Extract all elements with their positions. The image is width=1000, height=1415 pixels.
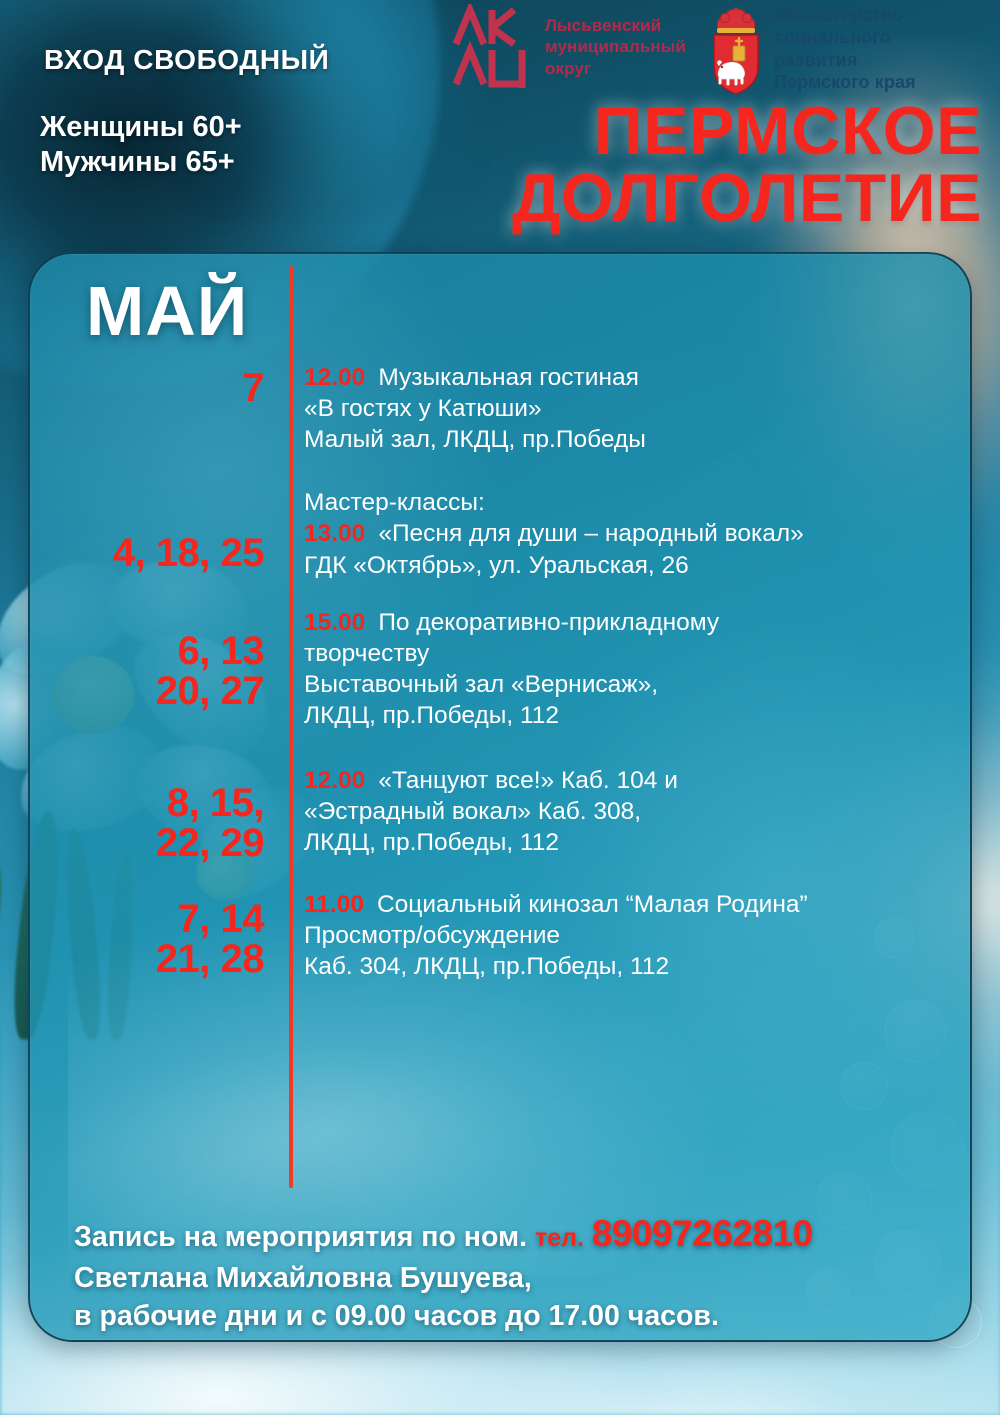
footer-contact-name: Светлана Михайловна Бушуева, bbox=[74, 1259, 954, 1297]
event-first-line: 11.00Социальный кинозал “Малая Родина” bbox=[304, 889, 808, 920]
schedule-card: МАЙ 7 12.00Музыкальная гостиная «В гостя… bbox=[28, 252, 972, 1342]
event-date-line: 4, 18, 25 bbox=[30, 533, 264, 573]
month-heading: МАЙ bbox=[86, 276, 248, 346]
event-date-line: 20, 27 bbox=[30, 671, 264, 711]
poster-title-line-2: ДОЛГОЛЕТИЕ bbox=[0, 165, 982, 232]
ministry-line-4: Пермского края bbox=[774, 72, 916, 92]
event-details: 15.00По декоративно-прикладному творчест… bbox=[278, 607, 719, 731]
event-date-line: 6, 13 bbox=[30, 631, 264, 671]
event-dates: 8, 15, 22, 29 bbox=[30, 765, 278, 863]
phone-number[interactable]: 89097262810 bbox=[592, 1213, 813, 1254]
event-first-line: 12.00Музыкальная гостиная bbox=[304, 362, 646, 393]
lkdc-line-2: муниципальный bbox=[545, 37, 686, 56]
event-details: 11.00Социальный кинозал “Малая Родина” П… bbox=[278, 889, 808, 982]
schedule-list: 7 12.00Музыкальная гостиная «В гостях у … bbox=[30, 362, 970, 1004]
ministry-line-1: Министерство bbox=[774, 5, 904, 25]
ministry-logo-text: Министерство социального развития Пермск… bbox=[774, 4, 916, 93]
free-entry-label: ВХОД СВОБОДНЫЙ bbox=[44, 44, 329, 76]
event-line: ЛКДЦ, пр.Победы, 112 bbox=[304, 827, 678, 858]
event-first-line: 12.00«Танцуют все!» Каб. 104 и bbox=[304, 765, 678, 796]
event-date-line: 7, 14 bbox=[30, 899, 264, 939]
poster: ВХОД СВОБОДНЫЙ Женщины 60+ Мужчины 65+ Л… bbox=[0, 0, 1000, 1415]
poster-title-line-1: ПЕРМСКОЕ bbox=[0, 98, 982, 165]
schedule-row: 7, 14 21, 28 11.00Социальный кинозал “Ма… bbox=[30, 889, 970, 982]
event-date-line: 21, 28 bbox=[30, 939, 264, 979]
logo-row: Лысьвенский муниципальный округ bbox=[452, 4, 916, 96]
event-line: «В гостях у Катюши» bbox=[304, 393, 646, 424]
perm-krai-coat-of-arms-icon bbox=[708, 4, 764, 96]
lkdc-line-3: округ bbox=[545, 59, 591, 78]
event-dates: 7, 14 21, 28 bbox=[30, 889, 278, 979]
event-time: 12.00 bbox=[304, 364, 365, 391]
event-line: Каб. 304, ЛКДЦ, пр.Победы, 112 bbox=[304, 951, 808, 982]
ministry-line-2: социального bbox=[774, 27, 891, 47]
lkdc-logo: Лысьвенский муниципальный округ bbox=[452, 4, 686, 90]
event-line: Музыкальная гостиная bbox=[378, 364, 639, 391]
event-line: ГДК «Октябрь», ул. Уральская, 26 bbox=[304, 550, 804, 581]
ministry-line-3: развития bbox=[774, 50, 858, 70]
lkdc-logo-text: Лысьвенский муниципальный округ bbox=[545, 15, 686, 79]
footer-line-1: Запись на мероприятия по ном. тел. 89097… bbox=[74, 1209, 954, 1259]
phone-label: тел. bbox=[535, 1224, 584, 1252]
event-heading: Мастер-классы: bbox=[304, 487, 804, 518]
event-date-line: 7 bbox=[30, 368, 264, 408]
poster-title: ПЕРМСКОЕ ДОЛГОЛЕТИЕ bbox=[0, 98, 982, 231]
event-dates: 6, 13 20, 27 bbox=[30, 607, 278, 711]
footer-working-hours: в рабочие дни и с 09.00 часов до 17.00 ч… bbox=[74, 1297, 954, 1335]
event-line: творчеству bbox=[304, 638, 719, 669]
event-details: Мастер-классы: 13.00«Песня для души – на… bbox=[278, 487, 804, 580]
event-time: 12.00 bbox=[304, 767, 365, 794]
event-line: ЛКДЦ, пр.Победы, 112 bbox=[304, 700, 719, 731]
contact-footer: Запись на мероприятия по ном. тел. 89097… bbox=[74, 1209, 954, 1335]
footer-booking-text: Запись на мероприятия по ном. bbox=[74, 1221, 527, 1253]
event-line: По декоративно-прикладному bbox=[378, 609, 719, 636]
event-dates: 7 bbox=[30, 362, 278, 408]
ministry-logo: Министерство социального развития Пермск… bbox=[708, 4, 916, 96]
event-details: 12.00Музыкальная гостиная «В гостях у Ка… bbox=[278, 362, 646, 455]
event-line: Выставочный зал «Вернисаж», bbox=[304, 669, 719, 700]
lkdc-line-1: Лысьвенский bbox=[545, 16, 661, 35]
schedule-row: 7 12.00Музыкальная гостиная «В гостях у … bbox=[30, 362, 970, 455]
event-time: 13.00 bbox=[304, 520, 365, 547]
schedule-row: 6, 13 20, 27 15.00По декоративно-приклад… bbox=[30, 607, 970, 731]
event-details: 12.00«Танцуют все!» Каб. 104 и «Эстрадны… bbox=[278, 765, 678, 858]
event-first-line: 15.00По декоративно-прикладному bbox=[304, 607, 719, 638]
schedule-row: 8, 15, 22, 29 12.00«Танцуют все!» Каб. 1… bbox=[30, 765, 970, 863]
event-line: «Эстрадный вокал» Каб. 308, bbox=[304, 796, 678, 827]
event-date-line: 8, 15, bbox=[30, 783, 264, 823]
lkdc-monogram-icon bbox=[452, 4, 534, 90]
event-line: «Песня для души – народный вокал» bbox=[378, 520, 803, 547]
event-line: Малый зал, ЛКДЦ, пр.Победы bbox=[304, 424, 646, 455]
event-time: 11.00 bbox=[304, 891, 364, 918]
event-line: Социальный кинозал “Малая Родина” bbox=[377, 891, 808, 918]
event-line: Просмотр/обсуждение bbox=[304, 920, 808, 951]
event-line: «Танцуют все!» Каб. 104 и bbox=[378, 767, 678, 794]
event-first-line: 13.00«Песня для души – народный вокал» bbox=[304, 518, 804, 549]
event-time: 15.00 bbox=[304, 609, 365, 636]
schedule-row: 4, 18, 25 Мастер-классы: 13.00«Песня для… bbox=[30, 487, 970, 580]
event-dates: 4, 18, 25 bbox=[30, 487, 278, 573]
event-date-line: 22, 29 bbox=[30, 823, 264, 863]
